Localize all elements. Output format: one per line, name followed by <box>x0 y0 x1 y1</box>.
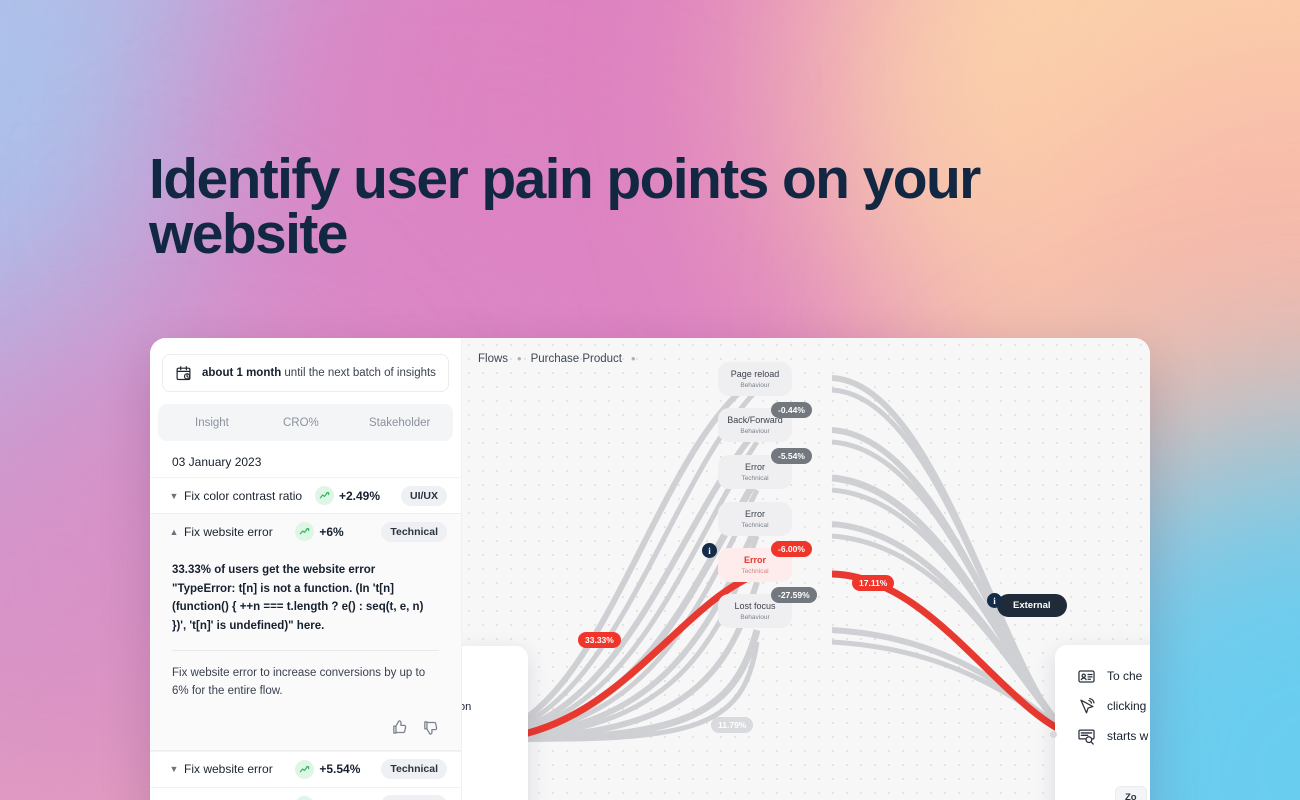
flow-node-delta-badge: -0.44% <box>771 402 812 418</box>
flow-node-page-reload[interactable]: Page reload Behaviour <box>718 362 792 396</box>
flow-node-title: Error <box>722 509 788 520</box>
feedback-row <box>172 701 439 742</box>
flow-node-delta-badge-alert: -6.00% <box>771 541 812 557</box>
next-batch-text: about 1 month until the next batch of in… <box>202 367 436 379</box>
chevron-up-icon[interactable]: ▲ <box>164 527 184 537</box>
flow-node-error-2[interactable]: Error Technical <box>718 502 792 536</box>
flow-canvas[interactable]: Flows • Purchase Product • <box>462 338 1150 800</box>
flow-node-subtitle: Technical <box>722 475 788 482</box>
insight-cro-value: +6% <box>319 525 343 539</box>
insight-cro: +6% <box>295 522 381 541</box>
legend-row[interactable]: starts w <box>1077 721 1150 751</box>
flow-legend-card: To che clicking starts w Zo <box>1055 645 1150 800</box>
next-batch-strong: about 1 month <box>202 367 281 379</box>
legend-card-handle[interactable] <box>1050 731 1057 738</box>
id-card-icon <box>1077 667 1096 686</box>
flow-node-delta-badge: -5.54% <box>771 448 812 464</box>
calendar-clock-icon <box>175 365 192 382</box>
thumbs-up-icon[interactable] <box>391 719 408 736</box>
legend-row[interactable]: clicking <box>1077 691 1150 721</box>
insight-row-expanded[interactable]: ▲ Fix website error +6% Technical <box>150 513 461 549</box>
flow-node-delta-badge: -27.59% <box>771 587 817 603</box>
flow-node-subtitle: Behaviour <box>722 382 788 389</box>
insight-title: Fix website error <box>184 525 295 539</box>
insight-stakeholder-tag: Technical <box>381 522 447 542</box>
insight-row[interactable]: ▼ Fix color contrast ratio +2.49% UI/UX <box>150 477 461 513</box>
trend-up-icon <box>295 760 314 779</box>
legend-text: clicking <box>1107 699 1146 713</box>
insight-cro: +5.54% <box>295 760 381 779</box>
breadcrumb-item-flows[interactable]: Flows <box>478 353 508 365</box>
legend-row[interactable]: To che <box>1077 661 1150 691</box>
insight-recommendation: Fix website error to increase conversion… <box>172 664 439 701</box>
info-icon-external[interactable]: i <box>987 593 1002 608</box>
legend-text: To che <box>1107 669 1142 683</box>
flow-node-title: Page reload <box>722 369 788 380</box>
breadcrumb-item-purchase-product[interactable]: Purchase Product <box>531 353 622 365</box>
flow-node-subtitle: Technical <box>722 568 788 575</box>
app-window: about 1 month until the next batch of in… <box>150 338 1150 800</box>
insight-title: Fix color contrast ratio <box>184 489 315 503</box>
insight-cro: +2.49% <box>315 486 401 505</box>
insight-stakeholder-tag: Technical <box>381 795 447 800</box>
info-icon[interactable]: i <box>702 543 717 558</box>
trend-up-icon <box>295 522 314 541</box>
page-title: Identify user pain points on your websit… <box>149 152 1049 263</box>
chevron-down-icon[interactable]: ▼ <box>164 764 184 774</box>
trend-up-icon <box>295 796 314 800</box>
insight-row[interactable]: ▼ Fix website error +4.38% Technical <box>150 787 461 800</box>
column-header-stakeholder: Stakeholder <box>369 417 453 429</box>
cursor-click-icon <box>1077 697 1096 716</box>
link-badge-baseline: 11.79% <box>711 717 753 733</box>
next-batch-banner: about 1 month until the next batch of in… <box>162 354 449 392</box>
legend-text: starts w <box>1107 729 1148 743</box>
chevron-down-icon[interactable]: ▼ <box>164 491 184 501</box>
flow-node-subtitle: Technical <box>722 522 788 529</box>
column-header-insight: Insight <box>158 417 283 429</box>
breadcrumb: Flows • Purchase Product • <box>478 352 636 365</box>
insight-cro-value: +2.49% <box>339 489 380 503</box>
insight-stakeholder-tag: UI/UX <box>401 486 447 506</box>
insight-cro: +4.38% <box>295 796 381 800</box>
link-badge-outbound: 17.11% <box>852 575 894 591</box>
flow-node-subtitle: Behaviour <box>722 428 788 435</box>
page-search-icon <box>1077 727 1096 746</box>
detail-divider <box>172 650 439 651</box>
zoom-button[interactable]: Zo <box>1115 786 1147 800</box>
insight-detail-body: 33.33% of users get the website error "T… <box>172 561 439 636</box>
breadcrumb-separator: • <box>517 352 522 365</box>
insights-sidebar: about 1 month until the next batch of in… <box>150 338 462 800</box>
link-badge-inbound: 33.33% <box>578 632 621 648</box>
column-header-cro: CRO% <box>283 417 369 429</box>
trend-up-icon <box>315 486 334 505</box>
breadcrumb-separator: • <box>631 352 636 365</box>
flow-node-subtitle: Behaviour <box>722 614 788 621</box>
flow-node-external[interactable]: External <box>997 594 1067 617</box>
insight-title: Fix website error <box>184 762 295 776</box>
insight-row[interactable]: ▼ Fix website error +5.54% Technical <box>150 751 461 787</box>
insights-table-header: Insight CRO% Stakeholder <box>158 404 453 441</box>
insight-cro-value: +5.54% <box>319 762 360 776</box>
insight-stakeholder-tag: Technical <box>381 759 447 779</box>
thumbs-down-icon[interactable] <box>422 719 439 736</box>
next-batch-rest: until the next batch of insights <box>281 367 436 379</box>
insights-date-group: 03 January 2023 <box>150 441 461 477</box>
insight-detail-panel: 33.33% of users get the website error "T… <box>150 549 461 751</box>
